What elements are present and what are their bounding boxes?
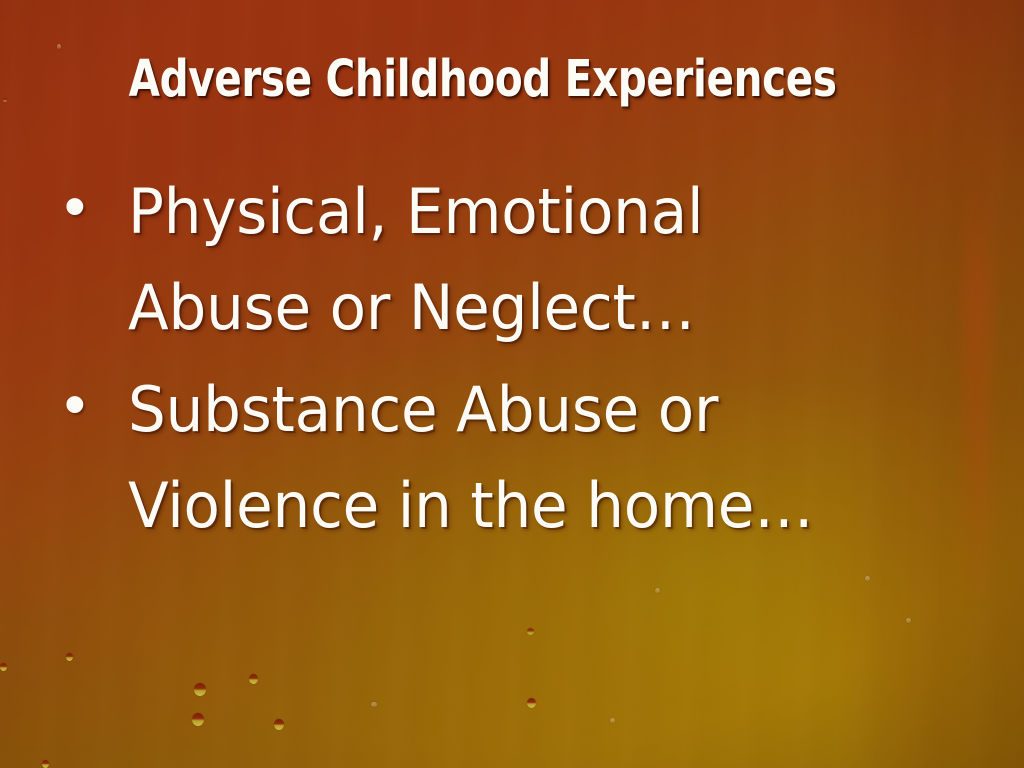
background-speck bbox=[0, 663, 7, 671]
bullet-line: Substance Abuse or bbox=[128, 362, 925, 458]
background-speck bbox=[371, 702, 377, 707]
background-speck bbox=[42, 760, 49, 768]
bullet-text: Substance Abuse or Violence in the home… bbox=[128, 362, 925, 554]
list-item: • Substance Abuse or Violence in the hom… bbox=[58, 362, 958, 554]
list-item: • Physical, Emotional Abuse or Neglect… bbox=[58, 164, 958, 356]
background-speck bbox=[610, 718, 615, 723]
background-speck bbox=[527, 628, 534, 635]
background-speck bbox=[3, 98, 7, 102]
bullet-list: • Physical, Emotional Abuse or Neglect… … bbox=[58, 164, 958, 560]
background-speck bbox=[865, 576, 870, 581]
presentation-slide: Adverse Childhood Experiences • Physical… bbox=[0, 0, 1024, 768]
background-speck bbox=[194, 683, 206, 696]
slide-title: Adverse Childhood Experiences bbox=[105, 54, 919, 105]
bullet-text: Physical, Emotional Abuse or Neglect… bbox=[128, 164, 925, 356]
bullet-line: Physical, Emotional bbox=[128, 164, 925, 260]
bullet-line: Abuse or Neglect… bbox=[128, 260, 925, 356]
background-speck bbox=[527, 698, 536, 708]
background-red-streak bbox=[964, 180, 990, 610]
bullet-marker-icon: • bbox=[58, 164, 128, 250]
background-speck bbox=[192, 713, 204, 726]
background-speck bbox=[906, 618, 911, 623]
bullet-marker-icon: • bbox=[58, 362, 128, 448]
background-speck bbox=[274, 719, 284, 730]
background-speck bbox=[57, 44, 61, 49]
background-speck bbox=[655, 588, 660, 593]
background-speck bbox=[66, 653, 73, 661]
bullet-line: Violence in the home… bbox=[128, 458, 925, 554]
background-speck bbox=[249, 674, 258, 684]
